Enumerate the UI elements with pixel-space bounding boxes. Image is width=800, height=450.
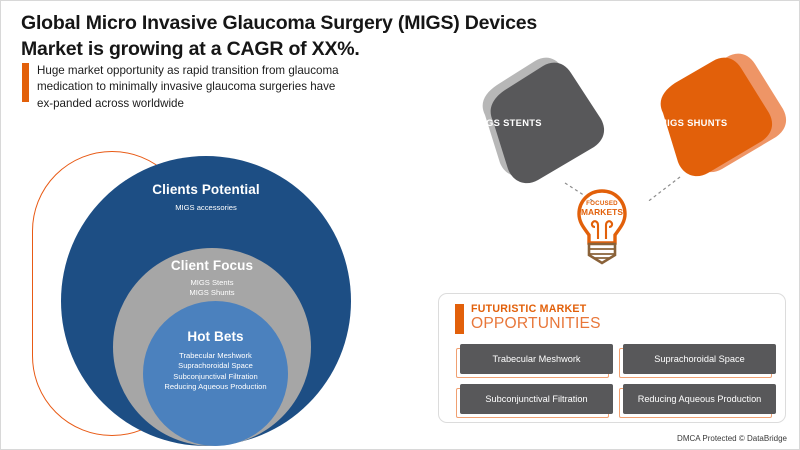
subtitle-text: Huge market opportunity as rapid transit… xyxy=(37,63,352,112)
focused-markets-bulb: FOCUSED MARKETS xyxy=(573,187,631,265)
panel-title-line2: OPPORTUNITIES xyxy=(471,316,601,333)
opportunity-item[interactable]: Reducing Aqueous Production xyxy=(619,384,772,414)
circle-inner-items: Trabecular MeshworkSuprachoroidal SpaceS… xyxy=(143,351,288,392)
opportunity-item[interactable]: Trabecular Meshwork xyxy=(456,344,609,374)
dmca-footer: DMCA Protected © DataBridge xyxy=(677,434,787,443)
circle-outer-items: MIGS accessories xyxy=(61,203,351,213)
opportunity-label[interactable]: Suprachoroidal Space xyxy=(623,344,776,374)
infographic-canvas: Global Micro Invasive Glaucoma Surgery (… xyxy=(0,0,800,450)
shunts-blob-label: MIGS SHUNTS xyxy=(659,117,727,128)
nested-circles-diagram: Clients Potential MIGS accessories Clien… xyxy=(19,146,419,446)
circle-inner-label: Hot Bets xyxy=(143,329,288,344)
circle-mid-label: Client Focus xyxy=(113,258,311,273)
opportunity-label[interactable]: Trabecular Meshwork xyxy=(460,344,613,374)
opportunity-item[interactable]: Suprachoroidal Space xyxy=(619,344,772,374)
circle-mid-items: MIGS StentsMIGS Shunts xyxy=(113,278,311,299)
circle-outer-label: Clients Potential xyxy=(61,182,351,197)
market-blobs-group: MIGS STENTS MIGS SHUNTS xyxy=(431,51,796,201)
opportunity-item[interactable]: Subconjunctival Filtration xyxy=(456,384,609,414)
opportunity-label[interactable]: Subconjunctival Filtration xyxy=(460,384,613,414)
panel-title-line1: FUTURISTIC MARKET xyxy=(471,304,601,315)
subtitle-accent-bar xyxy=(22,63,29,102)
lightbulb-icon xyxy=(573,187,631,265)
circle-hot-bets[interactable]: Hot Bets Trabecular MeshworkSuprachoroid… xyxy=(143,301,288,446)
stents-blob-label: MIGS STENTS xyxy=(475,117,542,128)
subtitle-block: Huge market opportunity as rapid transit… xyxy=(22,63,372,112)
futuristic-opportunities-panel: FUTURISTIC MARKET OPPORTUNITIES Trabecul… xyxy=(438,293,786,423)
panel-header: FUTURISTIC MARKET OPPORTUNITIES xyxy=(455,304,601,334)
connector-shunts-to-bulb xyxy=(646,177,680,201)
panel-accent-bar xyxy=(455,304,464,334)
opportunity-label[interactable]: Reducing Aqueous Production xyxy=(623,384,776,414)
opportunities-grid: Trabecular Meshwork Suprachoroidal Space… xyxy=(456,344,772,414)
